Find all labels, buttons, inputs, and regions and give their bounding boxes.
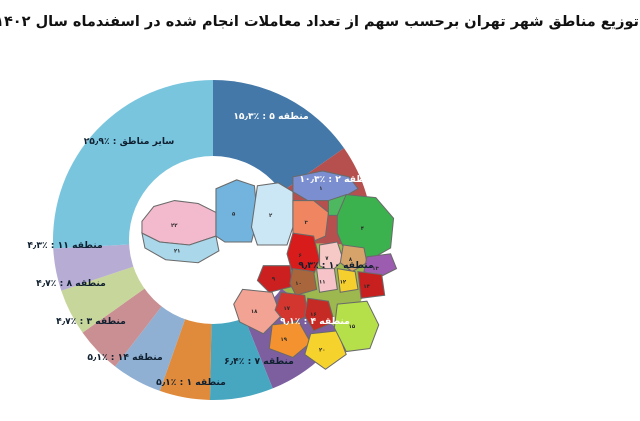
donut-chart: ۲۲ ۲۱ ۵ ۲ ۱ ۳ ۴ ۶ ۷ xyxy=(22,72,406,408)
label-district-1: منطقه ۱ : ٪۵٫۱ xyxy=(157,377,227,388)
donut-chart-svg: ۲۲ ۲۱ ۵ ۲ ۱ ۳ ۴ ۶ ۷ xyxy=(22,72,406,408)
page-title: توزیع مناطق شهر تهران برحسب سهم از تعداد… xyxy=(0,14,640,30)
label-district-4: منطقه ۴ : ٪۹٫۱ xyxy=(281,316,351,327)
label-district-8: منطقه ۸ : ٪۴٫۷ xyxy=(37,278,107,289)
label-district-14: منطقه ۱۴ : ٪۵٫۱ xyxy=(88,352,164,363)
label-district-3: منطقه ۳ : ٪۴٫۷ xyxy=(57,316,127,327)
label-other: سایر مناطق : ٪۲۵٫۹ xyxy=(85,136,176,147)
donut-hole xyxy=(130,156,298,324)
label-district-7: منطقه ۷ : ٪۶٫۴ xyxy=(225,356,295,367)
label-district-11: منطقه ۱۱ : ٪۴٫۳ xyxy=(28,240,104,251)
label-district-10: منطقه ۱۰ : ٪۹٫۳ xyxy=(299,260,375,271)
label-district-5: منطقه ۵ : ٪۱۵٫۳ xyxy=(234,111,310,122)
label-district-2: منطقه ۲ : ٪۱۰٫۳ xyxy=(300,174,376,185)
